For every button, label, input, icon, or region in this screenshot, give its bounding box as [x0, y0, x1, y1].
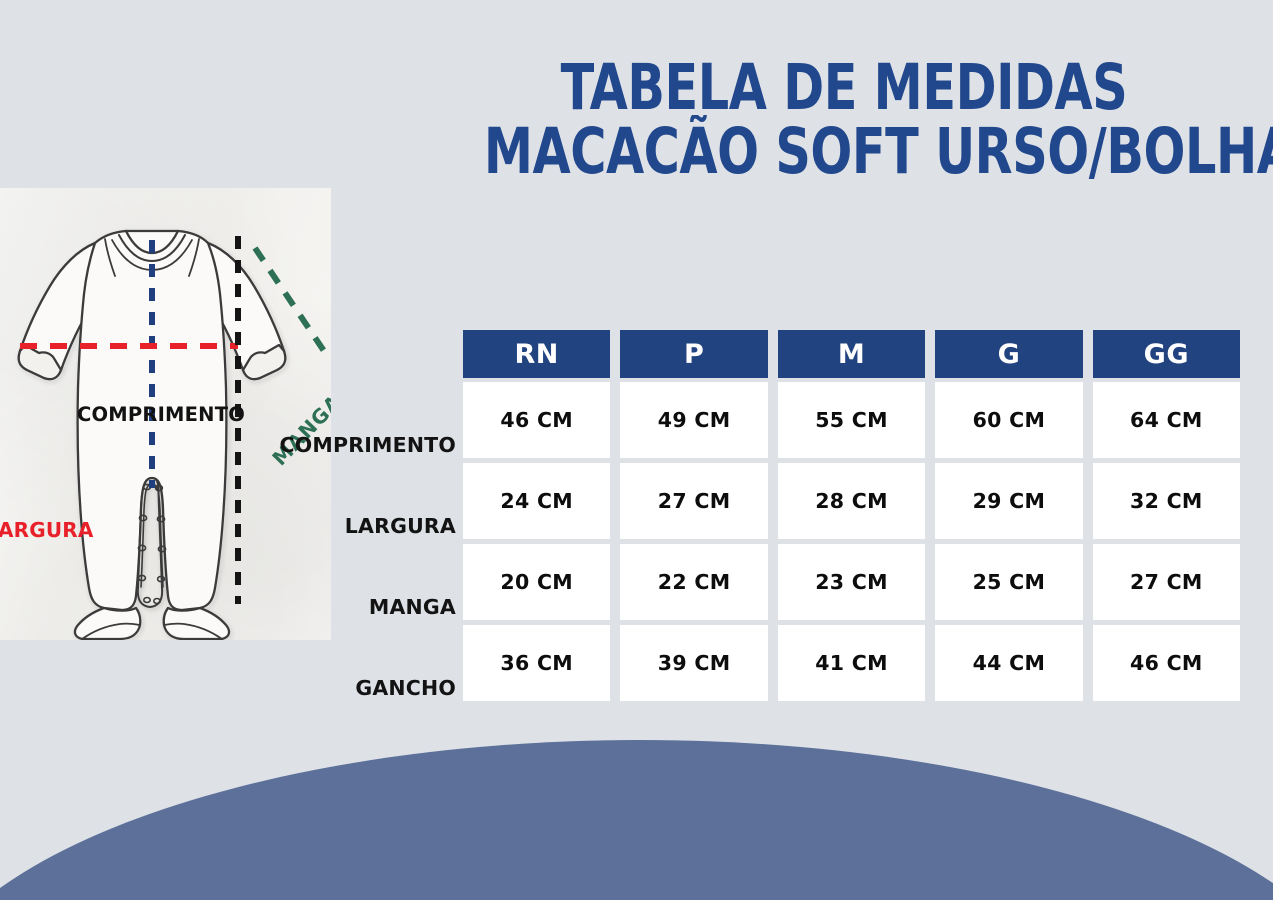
header-corner-spacer [330, 330, 458, 382]
cell-comprimento-rn: 46 CM [463, 382, 610, 458]
size-chart-page: TABELA DE MEDIDAS MACACÃO SOFT URSO/BOLH… [0, 0, 1273, 900]
cell-comprimento-gg: 64 CM [1093, 382, 1240, 458]
cell-gancho-m: 41 CM [778, 625, 925, 701]
cell-largura-gg: 32 CM [1093, 463, 1240, 539]
cell-largura-rn: 24 CM [463, 463, 610, 539]
table-row: COMPRIMENTO 46 CM 49 CM 55 CM 60 CM 64 C… [330, 382, 1245, 463]
cell-gancho-g: 44 CM [935, 625, 1082, 701]
diagram-label-largura: LARGURA [0, 518, 94, 542]
cell-manga-gg: 27 CM [1093, 544, 1240, 620]
cell-manga-p: 22 CM [620, 544, 767, 620]
row-label-largura: LARGURA [330, 463, 458, 544]
cell-manga-rn: 20 CM [463, 544, 610, 620]
table-header-row: RN P M G GG [330, 330, 1245, 382]
bottom-curve-decoration [0, 740, 1273, 900]
garment-diagram-panel: COMPRIMENTO LARGURA MANGA GANCHO [0, 188, 331, 640]
row-label-comprimento: COMPRIMENTO [330, 382, 458, 463]
cell-largura-g: 29 CM [935, 463, 1082, 539]
cell-largura-p: 27 CM [620, 463, 767, 539]
table-row: MANGA 20 CM 22 CM 23 CM 25 CM 27 CM [330, 544, 1245, 625]
diagram-label-comprimento: COMPRIMENTO [77, 403, 245, 426]
row-label-manga: MANGA [330, 544, 458, 625]
column-header-gg: GG [1093, 330, 1240, 378]
title-line-1: TABELA DE MEDIDAS [484, 58, 1204, 118]
column-header-m: M [778, 330, 925, 378]
column-header-g: G [935, 330, 1082, 378]
cell-gancho-gg: 46 CM [1093, 625, 1240, 701]
cell-gancho-p: 39 CM [620, 625, 767, 701]
cell-gancho-rn: 36 CM [463, 625, 610, 701]
cell-comprimento-m: 55 CM [778, 382, 925, 458]
cell-largura-m: 28 CM [778, 463, 925, 539]
cell-comprimento-g: 60 CM [935, 382, 1082, 458]
row-label-gancho: GANCHO [330, 625, 458, 706]
table-row: LARGURA 24 CM 27 CM 28 CM 29 CM 32 CM [330, 463, 1245, 544]
title-line-2: MACACÃO SOFT URSO/BOLHAS [484, 122, 1204, 182]
cell-manga-m: 23 CM [778, 544, 925, 620]
column-header-rn: RN [463, 330, 610, 378]
size-measurement-table: RN P M G GG COMPRIMENTO 46 CM 49 CM 55 C… [330, 330, 1245, 706]
column-header-p: P [620, 330, 767, 378]
cell-manga-g: 25 CM [935, 544, 1082, 620]
table-row: GANCHO 36 CM 39 CM 41 CM 44 CM 46 CM [330, 625, 1245, 706]
page-title: TABELA DE MEDIDAS MACACÃO SOFT URSO/BOLH… [430, 58, 1258, 183]
cell-comprimento-p: 49 CM [620, 382, 767, 458]
